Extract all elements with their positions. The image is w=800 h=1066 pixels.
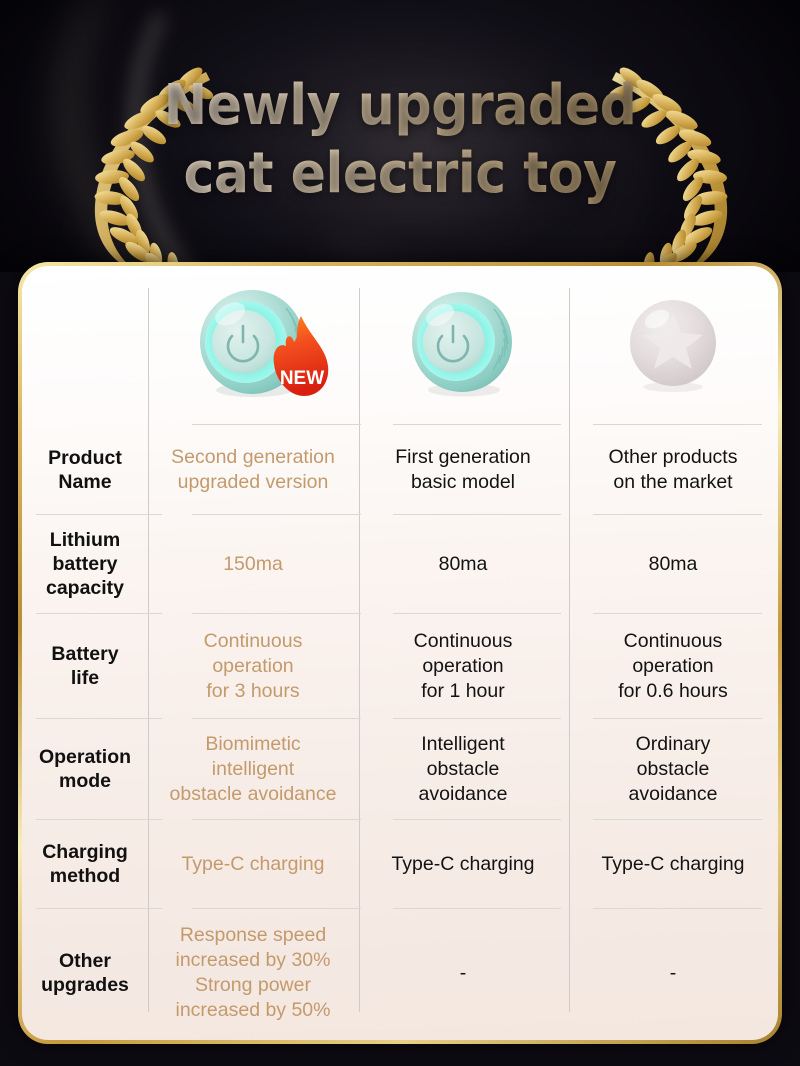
label-line: Other (41, 949, 129, 973)
cell-line: First generation (395, 445, 530, 470)
cell-battery-capacity-gen1: 80ma (358, 515, 568, 613)
cell-other-upgrades-other: - (568, 909, 778, 1037)
label-line: Product (48, 446, 122, 470)
cell-line: operation (618, 654, 727, 679)
cell-line: increased by 30% (175, 948, 330, 973)
cell-operation-mode-gen2: Biomimetic intelligent obstacle avoidanc… (148, 719, 358, 819)
table-row: Other upgrades Response speed increased … (22, 909, 778, 1037)
cell-line: Strong power (175, 973, 330, 998)
cell-battery-life-gen2: Continuous operation for 3 hours (148, 614, 358, 718)
label-line: Battery (51, 642, 118, 666)
page-title: Newly upgraded cat electric toy (0, 72, 800, 208)
table-row: Product Name Second generation upgraded … (22, 425, 778, 514)
title-line-2: cat electric toy (28, 140, 772, 208)
cell-line: obstacle (629, 757, 718, 782)
cell-line: upgraded version (171, 470, 335, 495)
cell-line: intelligent (170, 757, 337, 782)
label-line: upgrades (41, 973, 129, 997)
cell-other-upgrades-gen2: Response speed increased by 30% Strong p… (148, 909, 358, 1037)
cell-line: avoidance (419, 782, 508, 807)
cell-line: for 1 hour (414, 679, 513, 704)
cell-line: Response speed (175, 923, 330, 948)
cell-line: basic model (395, 470, 530, 495)
row-label-other-upgrades: Other upgrades (22, 909, 148, 1037)
cell-line: operation (414, 654, 513, 679)
table-row: Lithium battery capacity 150ma 80ma 80ma (22, 515, 778, 613)
cell-line: operation (204, 654, 303, 679)
comparison-table: NEW (22, 266, 778, 1040)
title-line-1: Newly upgraded (28, 72, 772, 140)
cell-other-upgrades-gen1: - (358, 909, 568, 1037)
cell-line: Continuous (204, 629, 303, 654)
cell-line: obstacle avoidance (170, 782, 337, 807)
table-row: Charging method Type-C charging Type-C c… (22, 820, 778, 908)
cell-line: Intelligent (419, 732, 508, 757)
row-label-product-name: Product Name (22, 425, 148, 514)
white-star-ball-icon (623, 295, 723, 395)
cell-line: Other products (609, 445, 738, 470)
cell-line: Continuous (618, 629, 727, 654)
cell-battery-life-other: Continuous operation for 0.6 hours (568, 614, 778, 718)
cell-battery-capacity-other: 80ma (568, 515, 778, 613)
label-line: battery (46, 552, 124, 576)
cell-line: for 0.6 hours (618, 679, 727, 704)
cell-product-name-gen1: First generation basic model (358, 425, 568, 514)
comparison-card: NEW (22, 266, 778, 1040)
teal-ball-gen1-icon (404, 286, 522, 404)
comparison-card-frame: NEW (18, 262, 782, 1044)
cell-line: for 3 hours (204, 679, 303, 704)
product-image-row: NEW (22, 266, 778, 424)
new-badge-label: NEW (280, 368, 324, 389)
cell-line: obstacle (419, 757, 508, 782)
label-line: capacity (46, 576, 124, 600)
cell-operation-mode-gen1: Intelligent obstacle avoidance (358, 719, 568, 819)
new-flame-badge-icon: NEW (264, 314, 334, 398)
cell-charging-method-other: Type-C charging (568, 820, 778, 908)
product-image-other[interactable] (568, 266, 778, 424)
cell-charging-method-gen2: Type-C charging (148, 820, 358, 908)
cell-product-name-other: Other products on the market (568, 425, 778, 514)
cell-battery-capacity-gen2: 150ma (148, 515, 358, 613)
cell-line: Biomimetic (170, 732, 337, 757)
cell-line: on the market (609, 470, 738, 495)
label-line: Name (48, 470, 122, 494)
cell-operation-mode-other: Ordinary obstacle avoidance (568, 719, 778, 819)
cell-line: Ordinary (629, 732, 718, 757)
row-label-operation-mode: Operation mode (22, 719, 148, 819)
cell-line: increased by 50% (175, 998, 330, 1023)
label-line: Charging (42, 840, 128, 864)
label-line: Operation (39, 745, 131, 769)
image-row-spacer (22, 266, 148, 424)
label-line: life (51, 666, 118, 690)
cell-line: avoidance (629, 782, 718, 807)
label-line: Lithium (46, 528, 124, 552)
cell-line: Second generation (171, 445, 335, 470)
hero-banner: Newly upgraded cat electric toy (0, 0, 800, 272)
row-label-battery-life: Battery life (22, 614, 148, 718)
product-image-gen1[interactable] (358, 266, 568, 424)
product-image-gen2[interactable]: NEW (148, 266, 358, 424)
cell-battery-life-gen1: Continuous operation for 1 hour (358, 614, 568, 718)
cell-product-name-gen2: Second generation upgraded version (148, 425, 358, 514)
row-label-battery-capacity: Lithium battery capacity (22, 515, 148, 613)
label-line: method (42, 864, 128, 888)
row-label-charging-method: Charging method (22, 820, 148, 908)
cell-line: Continuous (414, 629, 513, 654)
cell-charging-method-gen1: Type-C charging (358, 820, 568, 908)
table-row: Battery life Continuous operation for 3 … (22, 614, 778, 718)
table-row: Operation mode Biomimetic intelligent ob… (22, 719, 778, 819)
label-line: mode (39, 769, 131, 793)
